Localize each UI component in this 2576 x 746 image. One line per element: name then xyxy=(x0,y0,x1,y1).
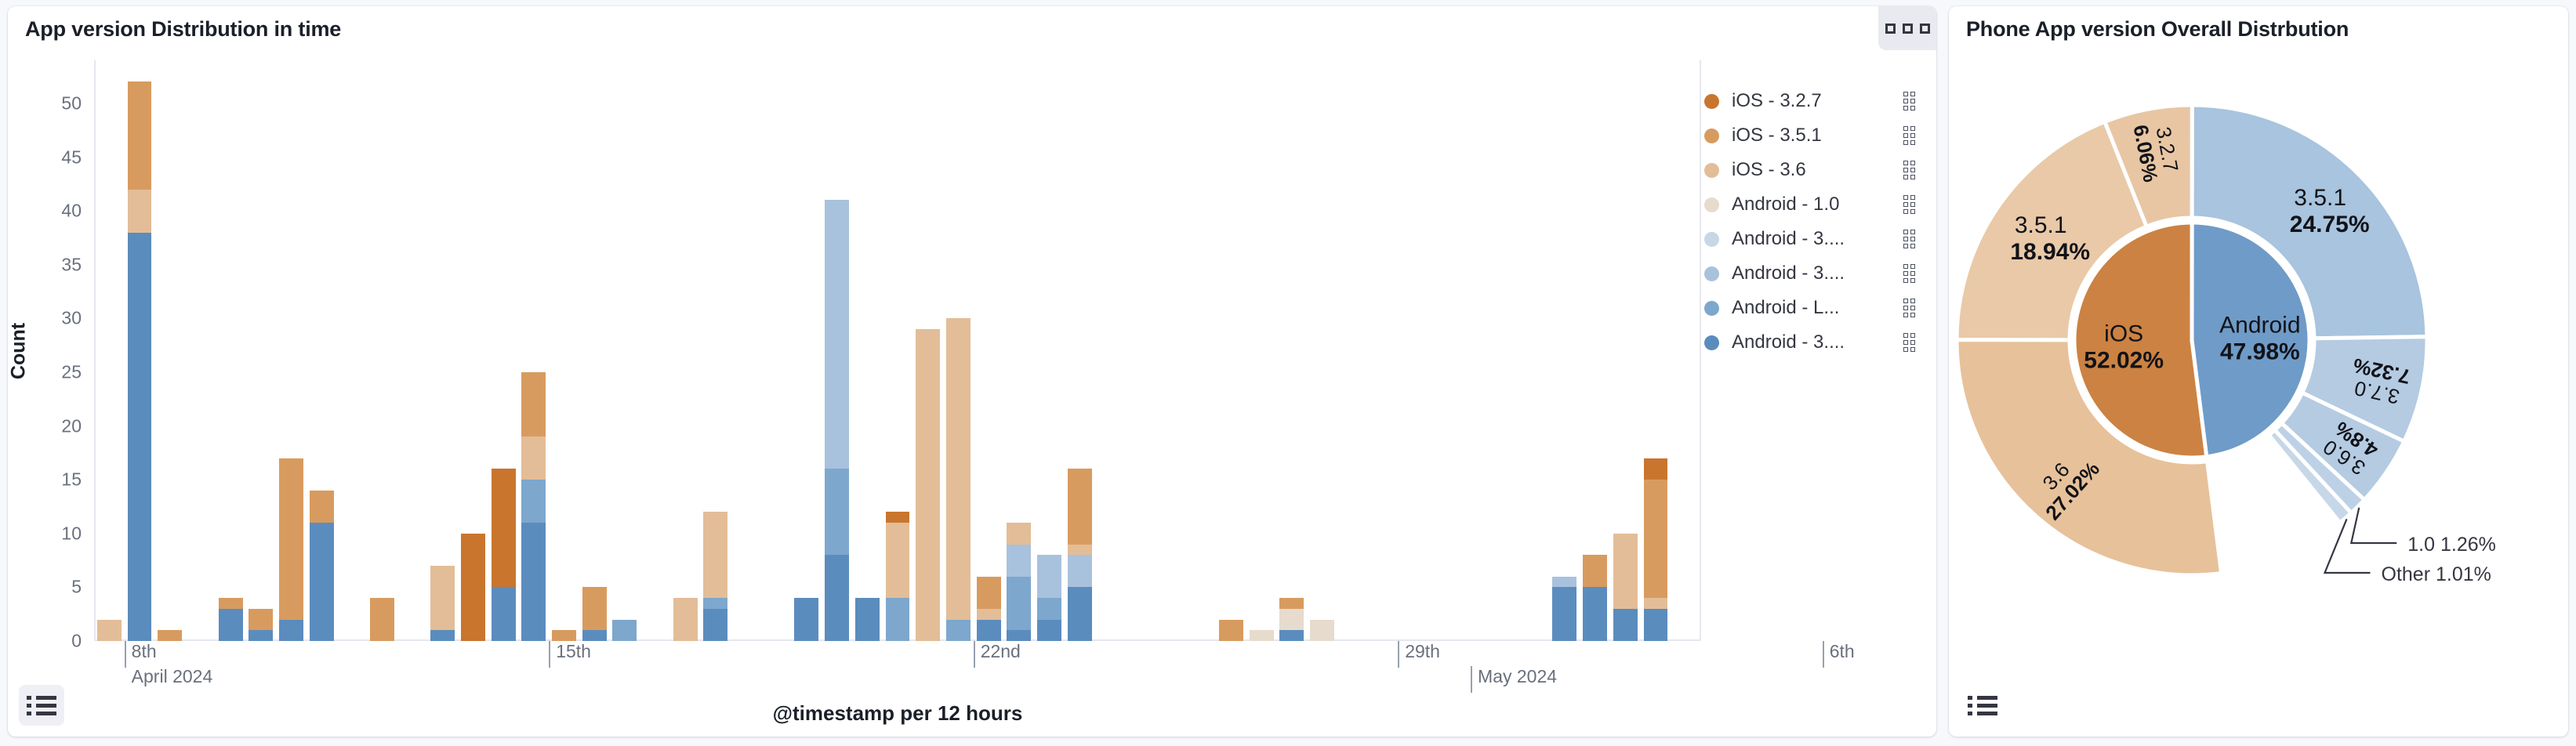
x-axis-tick-label: 15th xyxy=(556,641,591,662)
grip-dot xyxy=(1903,271,1908,276)
bar-stack[interactable] xyxy=(97,620,122,641)
x-axis-tick: 6th xyxy=(1823,641,1855,668)
drag-handle-icon[interactable] xyxy=(1900,126,1917,145)
bar-segment[interactable] xyxy=(886,523,910,598)
bar-segment[interactable] xyxy=(1068,587,1092,641)
bar-stack[interactable] xyxy=(977,577,1001,641)
legend-item-label: Android - 3.... xyxy=(1732,331,1900,353)
plot-area xyxy=(94,60,1701,641)
bar-stack[interactable] xyxy=(1279,598,1304,641)
dashboard: App version Distribution in time Count 0… xyxy=(0,0,2576,746)
bar-series-container xyxy=(94,60,1701,641)
bar-segment[interactable] xyxy=(1007,630,1031,641)
legend-color-swatch-icon xyxy=(1704,266,1719,281)
svg-text:18.94%: 18.94% xyxy=(2010,239,2090,265)
legend-item-4[interactable]: Android - 3.... xyxy=(1704,222,1917,256)
bar-stack[interactable] xyxy=(1068,469,1092,641)
legend-item-6[interactable]: Android - L... xyxy=(1704,291,1917,325)
bar-segment[interactable] xyxy=(279,620,303,641)
bar-segment[interactable] xyxy=(1552,577,1576,588)
bar-segment[interactable] xyxy=(492,587,516,641)
x-axis-period-text: April 2024 xyxy=(132,666,213,687)
bar-segment[interactable] xyxy=(703,598,727,609)
grip-dot xyxy=(1910,271,1915,276)
bar-stack[interactable] xyxy=(886,512,910,641)
legend-item-7[interactable]: Android - 3.... xyxy=(1704,325,1917,360)
bar-stack[interactable] xyxy=(279,458,303,641)
x-axis-tick-label: 8th xyxy=(132,641,157,662)
grip-dot xyxy=(1903,244,1908,248)
grip-dot xyxy=(1903,237,1908,241)
grip-dot xyxy=(1910,230,1915,234)
bar-stack[interactable] xyxy=(673,598,698,641)
bar-segment[interactable] xyxy=(370,598,394,641)
bar-segment[interactable] xyxy=(1037,620,1061,641)
x-axis-period-label: May 2024 xyxy=(1471,666,1557,693)
bar-stack[interactable] xyxy=(1644,458,1668,641)
bar-segment[interactable] xyxy=(128,190,152,233)
bar-stack[interactable] xyxy=(1219,620,1243,641)
grip-dot xyxy=(1910,92,1915,96)
bar-segment[interactable] xyxy=(128,233,152,641)
bar-stack[interactable] xyxy=(310,491,334,641)
bar-stack[interactable] xyxy=(946,318,971,641)
grip-dot xyxy=(1903,161,1908,165)
legend-color-swatch-icon xyxy=(1704,301,1719,316)
grip-dot xyxy=(1903,140,1908,145)
grip-dot xyxy=(1910,340,1915,345)
y-axis-tick: 20 xyxy=(61,415,82,436)
legend-item-label: iOS - 3.2.7 xyxy=(1732,90,1900,112)
svg-text:3.5.1: 3.5.1 xyxy=(2294,185,2346,211)
page-title: App version Distribution in time xyxy=(8,6,1936,46)
more-options-icon[interactable] xyxy=(1878,6,1936,50)
y-axis-tick: 0 xyxy=(71,631,82,652)
grip-dot xyxy=(1903,340,1908,345)
bar-stack[interactable] xyxy=(158,630,182,641)
y-axis-title: Count xyxy=(8,322,31,378)
bar-segment[interactable] xyxy=(521,372,546,436)
drag-handle-icon[interactable] xyxy=(1900,92,1917,110)
grip-dot xyxy=(1910,195,1915,200)
bar-segment[interactable] xyxy=(521,436,546,480)
sunburst-chart: iOS52.02%Android47.98%3.627.02%3.5.118.9… xyxy=(1949,46,2568,737)
x-axis-period-text: May 2024 xyxy=(1478,666,1557,687)
list-glyph-row xyxy=(1968,696,1997,700)
bar-segment[interactable] xyxy=(158,630,182,641)
drag-handle-icon[interactable] xyxy=(1900,230,1917,248)
bar-segment[interactable] xyxy=(1007,523,1031,544)
bar-stack[interactable] xyxy=(492,469,516,641)
bar-segment[interactable] xyxy=(916,329,940,641)
y-axis-tick: 50 xyxy=(61,92,82,114)
bar-segment[interactable] xyxy=(1644,598,1668,609)
bar-segment[interactable] xyxy=(1219,620,1243,641)
grip-dot xyxy=(1910,306,1915,310)
bar-segment[interactable] xyxy=(1007,577,1031,631)
bar-segment[interactable] xyxy=(219,609,243,641)
legend-color-swatch-icon xyxy=(1704,197,1719,212)
bar-segment[interactable] xyxy=(977,577,1001,609)
grip-dot xyxy=(1903,278,1908,283)
bar-segment[interactable] xyxy=(946,318,971,619)
panel-app-version-distribution: App version Distribution in time Count 0… xyxy=(8,6,1936,737)
list-glyph-row xyxy=(27,696,56,700)
grip-dot xyxy=(1903,175,1908,179)
bar-segment[interactable] xyxy=(855,598,880,641)
y-axis-tick: 35 xyxy=(61,254,82,275)
legend-item-label: Android - 3.... xyxy=(1732,228,1900,250)
drag-handle-icon[interactable] xyxy=(1900,264,1917,283)
grip-dot xyxy=(1910,333,1915,338)
bar-segment[interactable] xyxy=(1583,587,1607,641)
grip-dot xyxy=(1910,99,1915,103)
square-glyph-2 xyxy=(1903,24,1913,34)
bar-segment[interactable] xyxy=(219,598,243,609)
grip-dot xyxy=(1903,133,1908,138)
grip-dot xyxy=(1903,299,1908,303)
grip-dot xyxy=(1910,313,1915,317)
legend-item-1[interactable]: iOS - 3.5.1 xyxy=(1704,118,1917,153)
bar-segment[interactable] xyxy=(886,598,910,641)
svg-text:iOS: iOS xyxy=(2104,320,2143,346)
x-axis-tick: 22nd xyxy=(974,641,1021,668)
bar-stack[interactable] xyxy=(249,609,273,641)
bar-stack[interactable] xyxy=(1310,620,1334,641)
legend-item-label: Android - 3.... xyxy=(1732,263,1900,284)
legend-color-swatch-icon xyxy=(1704,129,1719,143)
sunburst-body: iOS52.02%Android47.98%3.627.02%3.5.118.9… xyxy=(1949,46,2568,737)
grip-dot xyxy=(1903,106,1908,110)
square-glyph-1 xyxy=(1885,24,1896,34)
bar-segment[interactable] xyxy=(1279,598,1304,609)
bar-segment[interactable] xyxy=(946,620,971,641)
grip-dot xyxy=(1910,202,1915,207)
bar-segment[interactable] xyxy=(673,598,698,641)
list-glyph xyxy=(27,696,56,715)
bar-stack[interactable] xyxy=(1007,523,1031,641)
legend-item-2[interactable]: iOS - 3.6 xyxy=(1704,153,1917,187)
svg-text:3.5.1: 3.5.1 xyxy=(2015,212,2067,238)
panel-overall-distribution: Phone App version Overall Distrbution iO… xyxy=(1949,6,2568,737)
grip-dot xyxy=(1910,140,1915,145)
y-axis-tick: 10 xyxy=(61,523,82,544)
drag-handle-icon[interactable] xyxy=(1900,161,1917,179)
grip-dot xyxy=(1903,264,1908,269)
drag-handle-icon[interactable] xyxy=(1900,299,1917,317)
y-axis-tick: 5 xyxy=(71,577,82,598)
bar-segment[interactable] xyxy=(1644,609,1668,641)
x-axis-tick-label: 29th xyxy=(1405,641,1440,662)
list-glyph-row xyxy=(1968,712,1997,715)
chart-legend: iOS - 3.2.7iOS - 3.5.1iOS - 3.6Android -… xyxy=(1704,84,1917,360)
bar-stack[interactable] xyxy=(855,598,880,641)
x-axis-tick-label: 22nd xyxy=(981,641,1021,662)
grip-dot xyxy=(1910,264,1915,269)
bar-segment[interactable] xyxy=(279,458,303,620)
grip-dot xyxy=(1903,347,1908,352)
bar-stack[interactable] xyxy=(552,630,576,641)
bar-stack[interactable] xyxy=(521,372,546,641)
list-glyph-row xyxy=(27,712,56,715)
bar-stack[interactable] xyxy=(430,566,455,641)
x-axis: 8thApril 202415th22nd29thMay 20246th xyxy=(94,641,1701,691)
grip-dot xyxy=(1903,209,1908,214)
grip-dot xyxy=(1910,278,1915,283)
bar-segment[interactable] xyxy=(1037,598,1061,619)
bar-segment[interactable] xyxy=(1613,534,1638,609)
y-axis-tick: 15 xyxy=(61,469,82,491)
bar-segment[interactable] xyxy=(521,523,546,641)
bar-segment[interactable] xyxy=(1279,609,1304,630)
bar-stack[interactable] xyxy=(1250,630,1274,641)
bar-segment[interactable] xyxy=(521,480,546,523)
bar-stack[interactable] xyxy=(1613,534,1638,641)
grip-dot xyxy=(1903,99,1908,103)
grip-dot xyxy=(1910,133,1915,138)
x-axis-tick: 29th xyxy=(1398,641,1440,668)
bar-segment[interactable] xyxy=(703,512,727,598)
legend-color-swatch-icon xyxy=(1704,94,1719,109)
bar-segment[interactable] xyxy=(1007,545,1031,577)
list-glyph-row xyxy=(1968,704,1997,708)
legend-item-label: iOS - 3.5.1 xyxy=(1732,125,1900,147)
x-axis-tick: 15th xyxy=(549,641,591,668)
bar-chart-body: Count 05101520253035404550 8thApril 2024… xyxy=(8,46,1936,737)
grip-dot xyxy=(1903,230,1908,234)
bar-segment[interactable] xyxy=(794,598,818,641)
grip-dot xyxy=(1910,161,1915,165)
svg-text:Android: Android xyxy=(2219,313,2300,339)
drag-handle-icon[interactable] xyxy=(1900,195,1917,214)
grip-dot xyxy=(1910,106,1915,110)
bar-segment[interactable] xyxy=(1310,620,1334,641)
bar-segment[interactable] xyxy=(310,523,334,641)
grip-dot xyxy=(1910,175,1915,179)
legend-item-0[interactable]: iOS - 3.2.7 xyxy=(1704,84,1917,118)
square-glyph-3 xyxy=(1920,24,1930,34)
legend-color-swatch-icon xyxy=(1704,232,1719,247)
grip-dot xyxy=(1910,126,1915,131)
bar-segment[interactable] xyxy=(249,609,273,630)
bar-segment[interactable] xyxy=(1250,630,1274,641)
bar-stack[interactable] xyxy=(703,512,727,641)
legend-list-icon[interactable] xyxy=(19,685,64,726)
bar-segment[interactable] xyxy=(461,534,485,641)
drag-handle-icon[interactable] xyxy=(1900,333,1917,352)
list-glyph xyxy=(1968,696,1997,715)
bar-segment[interactable] xyxy=(97,620,122,641)
sunburst-callout-1.0: 1.0 1.26% xyxy=(2351,508,2496,556)
bar-segment[interactable] xyxy=(825,200,849,469)
bar-segment[interactable] xyxy=(1068,555,1092,587)
bar-stack[interactable] xyxy=(1037,555,1061,641)
grip-dot xyxy=(1903,168,1908,172)
bar-segment[interactable] xyxy=(886,512,910,523)
y-axis-tick: 30 xyxy=(61,308,82,329)
grip-dot xyxy=(1903,202,1908,207)
bar-segment[interactable] xyxy=(1644,480,1668,598)
svg-text:24.75%: 24.75% xyxy=(2290,212,2370,237)
legend-item-3[interactable]: Android - 1.0 xyxy=(1704,187,1917,222)
bar-segment[interactable] xyxy=(1068,545,1092,556)
bar-stack[interactable] xyxy=(825,200,849,641)
grip-dot xyxy=(1903,306,1908,310)
legend-item-label: Android - L... xyxy=(1732,297,1900,319)
bar-segment[interactable] xyxy=(825,555,849,641)
legend-item-5[interactable]: Android - 3.... xyxy=(1704,256,1917,291)
page-title: Phone App version Overall Distrbution xyxy=(1949,6,2568,46)
bar-stack[interactable] xyxy=(612,620,637,641)
bar-stack[interactable] xyxy=(794,598,818,641)
bar-segment[interactable] xyxy=(977,609,1001,620)
bar-stack[interactable] xyxy=(461,534,485,641)
grip-dot xyxy=(1903,333,1908,338)
bar-chart: Count 05101520253035404550 8thApril 2024… xyxy=(8,46,1936,737)
legend-list-icon[interactable] xyxy=(1960,685,2005,726)
x-axis-tick: 8th xyxy=(125,641,157,668)
bar-segment[interactable] xyxy=(1037,555,1061,598)
bar-segment[interactable] xyxy=(1279,630,1304,641)
bar-stack[interactable] xyxy=(582,587,607,641)
legend-color-swatch-icon xyxy=(1704,335,1719,350)
bar-segment[interactable] xyxy=(1552,587,1576,641)
bar-segment[interactable] xyxy=(492,469,516,587)
bar-segment[interactable] xyxy=(1583,555,1607,587)
callout-text: 1.0 1.26% xyxy=(2407,534,2496,556)
legend-item-label: iOS - 3.6 xyxy=(1732,159,1900,181)
y-axis-tick: 45 xyxy=(61,147,82,168)
bar-segment[interactable] xyxy=(977,620,1001,641)
grip-dot xyxy=(1910,244,1915,248)
bar-segment[interactable] xyxy=(703,609,727,641)
sunburst-svg: iOS52.02%Android47.98%3.627.02%3.5.118.9… xyxy=(1949,46,2560,697)
list-glyph-row xyxy=(27,704,56,708)
callout-text: Other 1.01% xyxy=(2382,563,2491,585)
svg-text:52.02%: 52.02% xyxy=(2084,347,2164,373)
bar-stack[interactable] xyxy=(370,598,394,641)
bar-stack[interactable] xyxy=(1552,577,1576,641)
bar-segment[interactable] xyxy=(825,469,849,555)
grip-dot xyxy=(1910,209,1915,214)
grip-dot xyxy=(1910,299,1915,303)
grip-dot xyxy=(1910,347,1915,352)
grip-dot xyxy=(1903,313,1908,317)
bar-segment[interactable] xyxy=(430,566,455,630)
bar-segment[interactable] xyxy=(1644,458,1668,480)
bar-segment[interactable] xyxy=(1068,469,1092,544)
svg-text:47.98%: 47.98% xyxy=(2220,339,2300,365)
bar-segment[interactable] xyxy=(249,630,273,641)
bar-segment[interactable] xyxy=(1613,609,1638,641)
x-axis-tick-label: 6th xyxy=(1830,641,1855,662)
grip-dot xyxy=(1903,195,1908,200)
grip-dot xyxy=(1910,168,1915,172)
sunburst-inner-label-Android: Android47.98% xyxy=(2219,313,2300,365)
bar-segment[interactable] xyxy=(582,587,607,630)
grip-dot xyxy=(1903,126,1908,131)
y-axis-tick: 25 xyxy=(61,361,82,382)
bar-stack[interactable] xyxy=(916,329,940,641)
bar-segment[interactable] xyxy=(582,630,607,641)
bar-segment[interactable] xyxy=(128,81,152,189)
bar-stack[interactable] xyxy=(219,598,243,641)
x-axis-title: @timestamp per 12 hours xyxy=(94,701,1701,726)
y-axis-tick: 40 xyxy=(61,201,82,222)
bar-segment[interactable] xyxy=(612,620,637,641)
legend-color-swatch-icon xyxy=(1704,163,1719,178)
bar-segment[interactable] xyxy=(430,630,455,641)
bar-stack[interactable] xyxy=(1583,555,1607,641)
bar-stack[interactable] xyxy=(128,81,152,641)
grip-dot xyxy=(1910,237,1915,241)
bar-segment[interactable] xyxy=(552,630,576,641)
x-axis-period-label: April 2024 xyxy=(125,666,213,693)
bar-segment[interactable] xyxy=(310,491,334,523)
legend-item-label: Android - 1.0 xyxy=(1732,194,1900,215)
y-axis: Count 05101520253035404550 xyxy=(8,60,93,641)
grip-dot xyxy=(1903,92,1908,96)
